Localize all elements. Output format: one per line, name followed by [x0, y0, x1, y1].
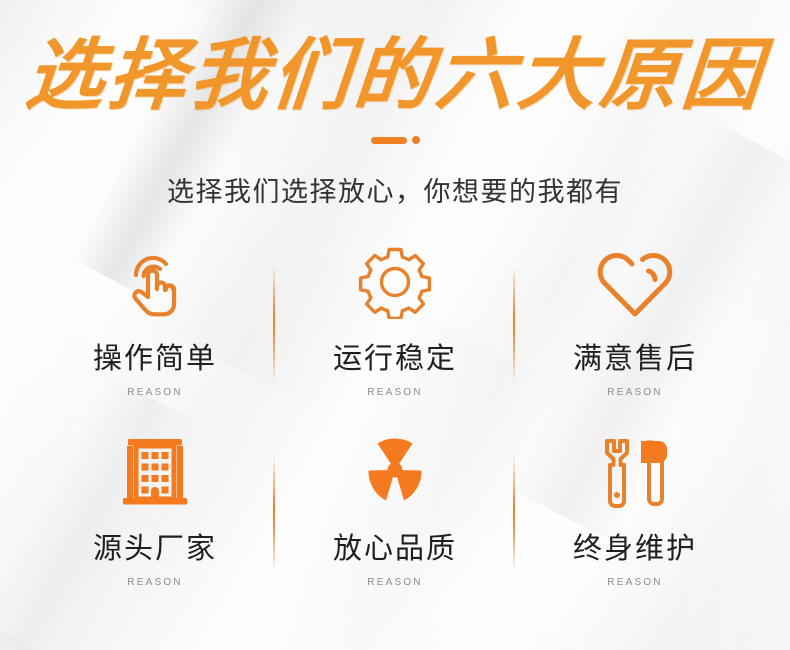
reason-sublabel: REASON [127, 387, 182, 398]
reasons-grid: 操作简单 REASON 运行稳定 REASON [35, 243, 755, 623]
divider-bar-icon [371, 137, 407, 144]
radiation-icon [355, 433, 435, 511]
reason-item-5: 放心品质 REASON [275, 433, 515, 623]
gear-icon [358, 243, 432, 321]
title-divider [0, 136, 790, 144]
reason-label: 运行稳定 [333, 335, 457, 377]
wrench-hammer-icon [593, 433, 677, 511]
divider-dot-icon [412, 136, 420, 144]
reason-item-2: 运行稳定 REASON [275, 243, 515, 433]
heart-icon [593, 243, 677, 321]
reason-label: 终身维护 [573, 525, 697, 567]
tap-gesture-icon [117, 243, 193, 321]
reason-label: 放心品质 [333, 525, 457, 567]
reason-label: 满意售后 [573, 335, 697, 377]
poster-header: 选择我们的六大原因 选择我们选择放心，你想要的我都有 [0, 0, 790, 209]
reason-sublabel: REASON [607, 577, 662, 588]
reason-sublabel: REASON [127, 577, 182, 588]
promo-poster: 选择我们的六大原因 选择我们选择放心，你想要的我都有 [0, 0, 790, 650]
reason-item-4: 源头厂家 REASON [35, 433, 275, 623]
reason-sublabel: REASON [367, 577, 422, 588]
page-title: 选择我们的六大原因 [0, 34, 790, 118]
reason-item-6: 终身维护 REASON [515, 433, 755, 623]
reason-label: 源头厂家 [93, 525, 217, 567]
reason-item-1: 操作简单 REASON [35, 243, 275, 433]
reason-item-3: 满意售后 REASON [515, 243, 755, 433]
reason-label: 操作简单 [93, 335, 217, 377]
factory-building-icon [115, 433, 195, 511]
reason-sublabel: REASON [607, 387, 662, 398]
reason-sublabel: REASON [367, 387, 422, 398]
page-subtitle: 选择我们选择放心，你想要的我都有 [0, 170, 790, 209]
